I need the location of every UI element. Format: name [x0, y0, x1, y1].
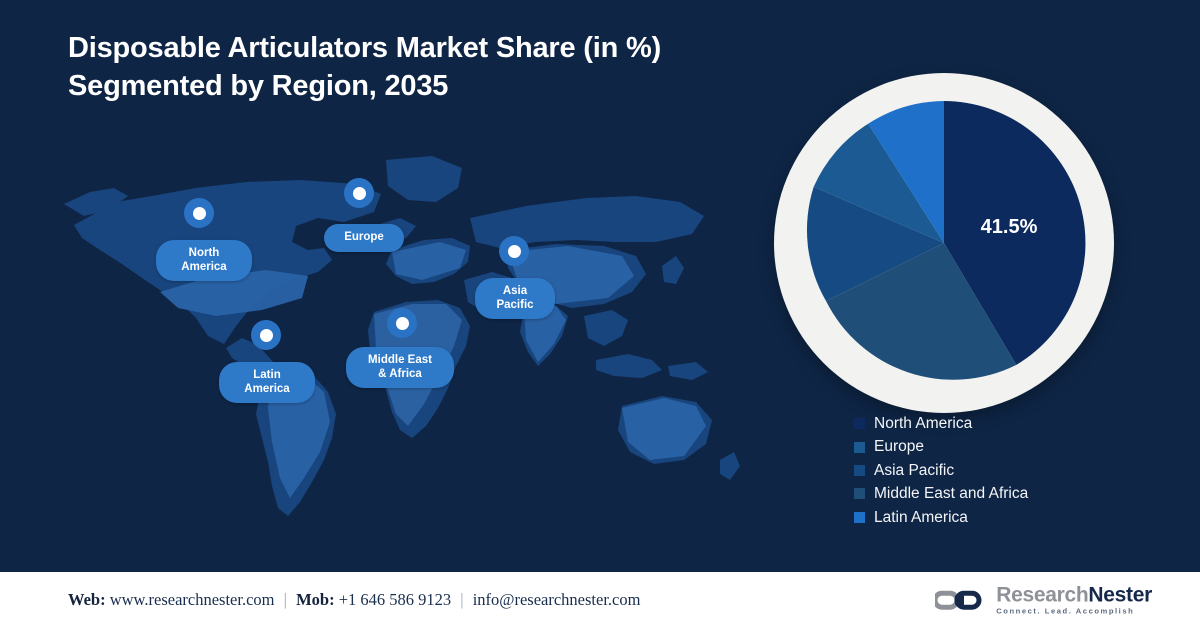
legend-item-asia-pacific[interactable]: Asia Pacific [854, 459, 1028, 482]
map-pin-icon [499, 236, 529, 266]
web-value[interactable]: www.researchnester.com [110, 590, 275, 609]
legend-label: Asia Pacific [874, 463, 954, 479]
legend: North America Europe Asia Pacific Middle… [854, 412, 1028, 529]
legend-item-latin-america[interactable]: Latin America [854, 506, 1028, 529]
map-pin-dot [260, 329, 273, 342]
mob-value[interactable]: +1 646 586 9123 [339, 590, 451, 609]
legend-item-middle-east-and-africa[interactable]: Middle East and Africa [854, 482, 1028, 505]
legend-swatch [854, 418, 865, 429]
interlocking-links-icon [935, 587, 987, 614]
map-pin-dot [396, 317, 409, 330]
brand-logo[interactable]: ResearchNester Connect. Lead. Accomplish [935, 585, 1152, 616]
legend-label: Latin America [874, 510, 968, 526]
legend-swatch [854, 488, 865, 499]
contact-line: Web: www.researchnester.com | Mob: +1 64… [68, 590, 640, 610]
world-map-panel: North America Europe Asia Pacific Middle… [56, 130, 746, 530]
title-line-2: Segmented by Region, 2035 [68, 68, 828, 106]
legend-swatch [854, 442, 865, 453]
logo-text: ResearchNester Connect. Lead. Accomplish [996, 585, 1152, 616]
separator-2: | [460, 590, 463, 609]
legend-swatch [854, 512, 865, 523]
map-label-europe: Europe [324, 224, 404, 252]
legend-item-north-america[interactable]: North America [854, 412, 1028, 435]
map-label-latin-america: Latin America [219, 362, 315, 403]
logo-tagline: Connect. Lead. Accomplish [996, 608, 1152, 616]
infographic-canvas: Disposable Articulators Market Share (in… [0, 0, 1200, 628]
legend-label: North America [874, 416, 972, 432]
legend-label: Europe [874, 439, 924, 455]
map-label-north-america: North America [156, 240, 252, 281]
pie-value-label: 41.5% [944, 216, 1074, 239]
map-pin-icon [387, 308, 417, 338]
legend-item-europe[interactable]: Europe [854, 435, 1028, 458]
map-pin-dot [353, 187, 366, 200]
legend-label: Middle East and Africa [874, 486, 1028, 502]
map-pin-icon [184, 198, 214, 228]
web-label: Web: [68, 590, 106, 609]
map-pin-icon [251, 320, 281, 350]
mob-label: Mob: [296, 590, 335, 609]
legend-swatch [854, 465, 865, 476]
pie-chart-panel: 41.5% [774, 73, 1114, 413]
logo-word-research: Research [996, 584, 1088, 607]
map-pin-dot [508, 245, 521, 258]
map-pin-icon [344, 178, 374, 208]
footer-bar: Web: www.researchnester.com | Mob: +1 64… [0, 572, 1200, 628]
separator-1: | [284, 590, 287, 609]
map-label-middle-east-africa: Middle East & Africa [346, 347, 454, 388]
page-title: Disposable Articulators Market Share (in… [68, 30, 828, 105]
logo-word-nester: Nester [1088, 584, 1152, 607]
map-pin-dot [193, 207, 206, 220]
email-value[interactable]: info@researchnester.com [473, 590, 641, 609]
title-line-1: Disposable Articulators Market Share (in… [68, 32, 661, 64]
logo-wordmark: ResearchNester [996, 585, 1152, 606]
pie-chart-graphic [802, 101, 1086, 385]
map-label-asia-pacific: Asia Pacific [475, 278, 555, 319]
